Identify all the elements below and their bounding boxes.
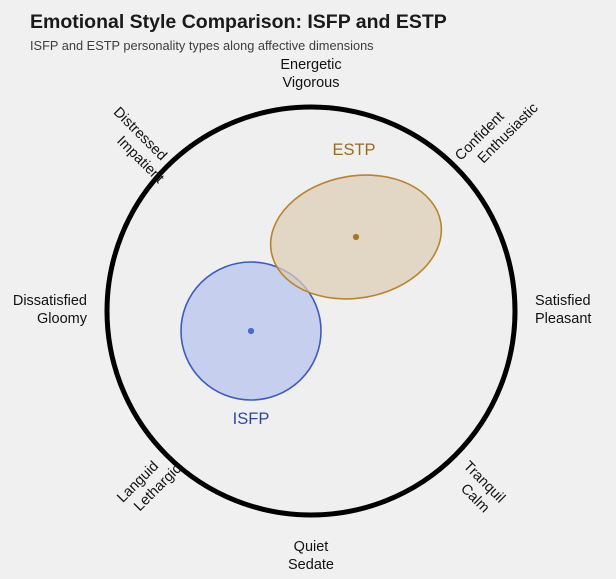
circumplex-chart: Emotional Style Comparison: ISFP and EST… (0, 0, 616, 574)
axis-label-line1: Satisfied (535, 293, 591, 309)
series-centroid-isfp (248, 328, 254, 334)
axis-label-line1: Quiet (294, 539, 329, 555)
axis-label-line2: Pleasant (535, 311, 591, 327)
chart-canvas: Emotional Style Comparison: ISFP and EST… (0, 0, 616, 574)
page-subtitle: ISFP and ESTP personality types along af… (30, 38, 374, 53)
axis-label-line2: Gloomy (37, 311, 88, 327)
axis-label-line1: Dissatisfied (13, 293, 87, 309)
series-label-estp: ESTP (332, 141, 375, 159)
axis-label-line1: Energetic (280, 57, 341, 73)
series-label-isfp: ISFP (233, 410, 270, 428)
series-centroid-estp (353, 234, 359, 240)
axis-label-line2: Sedate (288, 557, 334, 573)
axis-label-line2: Vigorous (283, 75, 340, 91)
page-title: Emotional Style Comparison: ISFP and EST… (30, 11, 447, 33)
